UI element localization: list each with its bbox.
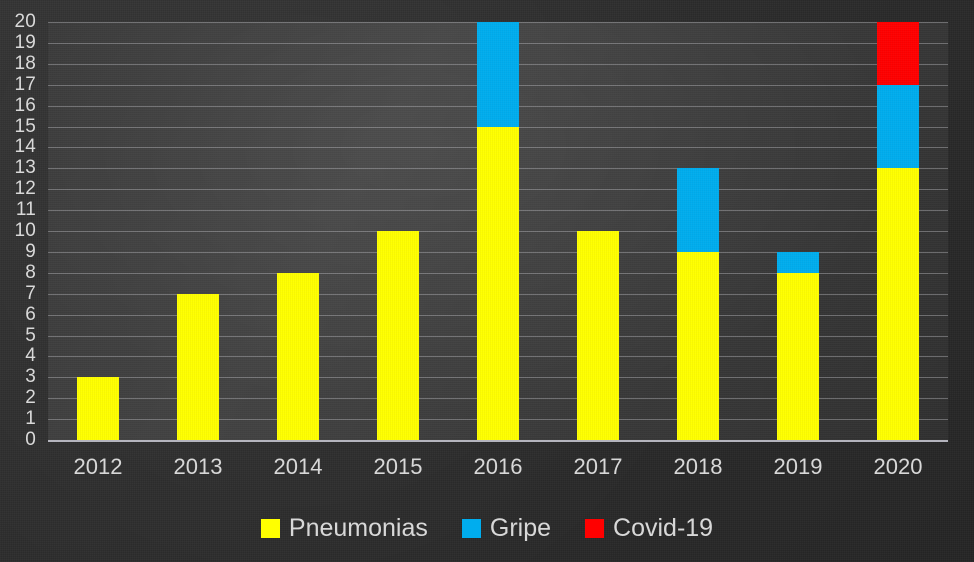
y-axis-tick-label: 2 — [0, 388, 36, 407]
legend-swatch-icon — [585, 519, 604, 538]
y-axis: 20191817161514131211109876543210 — [0, 0, 44, 562]
x-axis-tick-label: 2020 — [848, 454, 948, 480]
y-axis-tick-label: 4 — [0, 346, 36, 365]
legend-swatch-icon — [261, 519, 280, 538]
bar-segment[interactable] — [877, 168, 919, 440]
y-axis-tick-label: 8 — [0, 263, 36, 282]
bar-segment[interactable] — [777, 273, 819, 440]
bar-segment[interactable] — [677, 252, 719, 440]
y-axis-tick-label: 9 — [0, 242, 36, 261]
bar-segment[interactable] — [777, 252, 819, 273]
chart-root: 20191817161514131211109876543210 2012201… — [0, 0, 974, 562]
y-axis-tick-label: 18 — [0, 54, 36, 73]
legend-label: Pneumonias — [289, 514, 428, 542]
y-axis-tick-label: 5 — [0, 326, 36, 345]
x-axis: 201220132014201520162017201820192020 — [48, 444, 948, 490]
x-axis-tick-label: 2015 — [348, 454, 448, 480]
plot-area — [48, 22, 948, 440]
y-axis-tick-label: 13 — [0, 158, 36, 177]
bar-segment[interactable] — [677, 168, 719, 252]
y-axis-tick-label: 0 — [0, 430, 36, 449]
x-axis-tick-label: 2016 — [448, 454, 548, 480]
y-axis-tick-label: 3 — [0, 367, 36, 386]
bar-segment[interactable] — [477, 127, 519, 441]
x-axis-tick-label: 2012 — [48, 454, 148, 480]
y-axis-tick-label: 11 — [0, 200, 36, 219]
bar-segment[interactable] — [77, 377, 119, 440]
bar-group[interactable] — [277, 22, 319, 440]
y-axis-tick-label: 19 — [0, 33, 36, 52]
y-axis-tick-label: 7 — [0, 284, 36, 303]
y-axis-tick-label: 6 — [0, 305, 36, 324]
legend-item[interactable]: Covid-19 — [585, 514, 713, 542]
bar-group[interactable] — [77, 22, 119, 440]
y-axis-tick-label: 12 — [0, 179, 36, 198]
axis-baseline — [48, 440, 948, 442]
y-axis-tick-label: 1 — [0, 409, 36, 428]
x-axis-tick-label: 2013 — [148, 454, 248, 480]
bar-segment[interactable] — [877, 22, 919, 85]
y-axis-tick-label: 16 — [0, 96, 36, 115]
bar-group[interactable] — [177, 22, 219, 440]
bar-group[interactable] — [877, 22, 919, 440]
legend-label: Covid-19 — [613, 514, 713, 542]
x-axis-tick-label: 2018 — [648, 454, 748, 480]
bar-segment[interactable] — [277, 273, 319, 440]
bar-group[interactable] — [577, 22, 619, 440]
y-axis-tick-label: 10 — [0, 221, 36, 240]
x-axis-tick-label: 2019 — [748, 454, 848, 480]
legend-swatch-icon — [462, 519, 481, 538]
bar-segment[interactable] — [577, 231, 619, 440]
bar-group[interactable] — [477, 22, 519, 440]
bar-segment[interactable] — [377, 231, 419, 440]
x-axis-tick-label: 2014 — [248, 454, 348, 480]
bar-group[interactable] — [777, 22, 819, 440]
legend-item[interactable]: Pneumonias — [261, 514, 428, 542]
bar-segment[interactable] — [477, 22, 519, 127]
bar-group[interactable] — [677, 22, 719, 440]
y-axis-tick-label: 17 — [0, 75, 36, 94]
y-axis-tick-label: 14 — [0, 137, 36, 156]
legend-item[interactable]: Gripe — [462, 514, 551, 542]
bar-segment[interactable] — [877, 85, 919, 169]
bar-segment[interactable] — [177, 294, 219, 440]
y-axis-tick-label: 20 — [0, 12, 36, 31]
x-axis-tick-label: 2017 — [548, 454, 648, 480]
legend-label: Gripe — [490, 514, 551, 542]
y-axis-tick-label: 15 — [0, 117, 36, 136]
chart-legend: PneumoniasGripeCovid-19 — [0, 505, 974, 551]
bar-group[interactable] — [377, 22, 419, 440]
